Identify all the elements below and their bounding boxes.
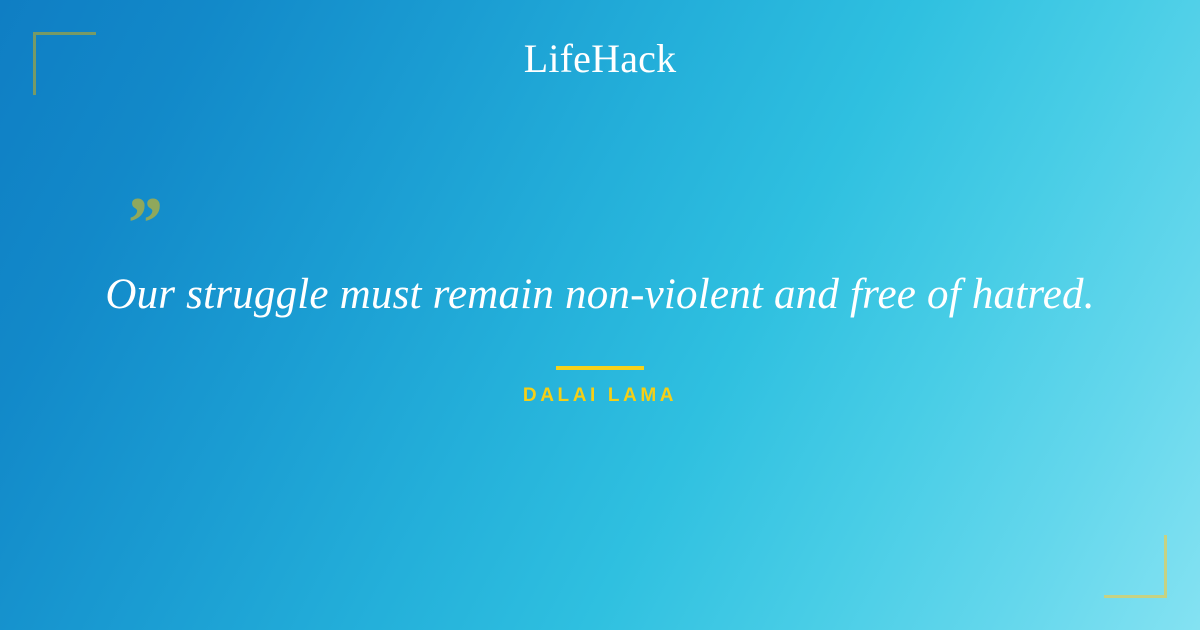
quote-text: Our struggle must remain non-violent and… [0,268,1200,322]
author-divider [556,366,644,370]
corner-bracket-bottom-right-icon [1104,535,1167,598]
brand-logo: LifeHack [0,39,1200,79]
quotation-mark-icon: ” [124,187,161,261]
quote-card: LifeHack ” Our struggle must remain non-… [0,0,1200,630]
quote-author: DALAI LAMA [0,386,1200,405]
